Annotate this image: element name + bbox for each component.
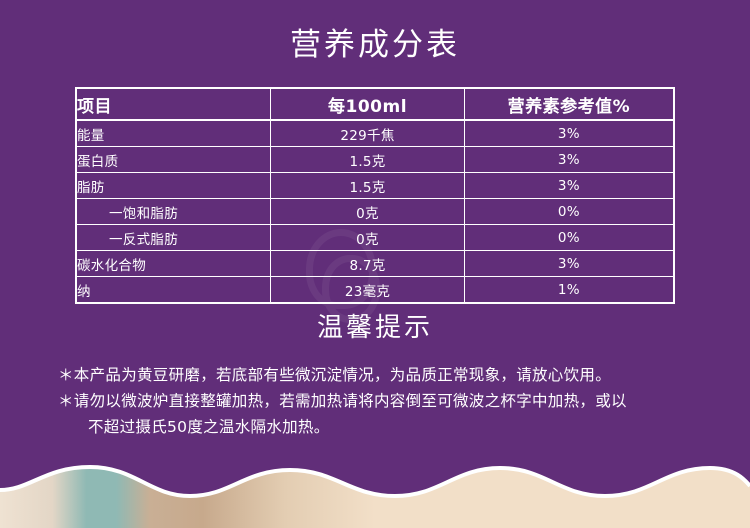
- tips-note-line: ＊请勿以微波炉直接整罐加热，若需加热请将内容倒至可微波之杯字中加热，或以: [58, 388, 698, 414]
- nutrition-table-container: 项目 每100ml 营养素参考值% 能量 229千焦 3% 蛋白质 1.5克 3…: [75, 87, 675, 304]
- cell-item-nrv: 3%: [464, 120, 673, 147]
- page-root: 营养成分表 项目 每100ml 营养素参考值% 能量 229千焦 3%: [0, 0, 750, 528]
- cell-item-value: 1.5克: [271, 147, 465, 173]
- tips-note-line: ＊本产品为黄豆研磨，若底部有些微沉淀情况，为品质正常现象，请放心饮用。: [58, 362, 698, 388]
- tips-notes: ＊本产品为黄豆研磨，若底部有些微沉淀情况，为品质正常现象，请放心饮用。 ＊请勿以…: [58, 362, 698, 440]
- cell-item-nrv: 3%: [464, 251, 673, 277]
- cell-item-name: 一反式脂肪: [77, 225, 271, 251]
- table-header-row: 项目 每100ml 营养素参考值%: [77, 89, 673, 120]
- nutrition-table: 项目 每100ml 营养素参考值% 能量 229千焦 3% 蛋白质 1.5克 3…: [77, 89, 673, 302]
- cell-item-value: 0克: [271, 225, 465, 251]
- bottom-wave-decoration: [0, 456, 750, 528]
- column-header-item: 项目: [77, 89, 271, 120]
- cell-item-value: 23毫克: [271, 277, 465, 303]
- cell-item-value: 229千焦: [271, 120, 465, 147]
- cell-item-name: 能量: [77, 120, 271, 147]
- page-title: 营养成分表: [0, 27, 750, 64]
- cell-item-nrv: 1%: [464, 277, 673, 303]
- tips-note-line-continued: 不超过摄氏50度之温水隔水加热。: [58, 414, 698, 440]
- cell-item-name: 纳: [77, 277, 271, 303]
- cell-item-name: 蛋白质: [77, 147, 271, 173]
- table-row: 纳 23毫克 1%: [77, 277, 673, 303]
- wave-fill-path: [0, 467, 750, 528]
- table-row: 蛋白质 1.5克 3%: [77, 147, 673, 173]
- column-header-per100ml: 每100ml: [271, 89, 465, 120]
- cell-item-name: 一饱和脂肪: [77, 199, 271, 225]
- cell-item-nrv: 3%: [464, 147, 673, 173]
- table-row: 脂肪 1.5克 3%: [77, 173, 673, 199]
- tips-title: 温馨提示: [0, 313, 750, 344]
- table-row: 一饱和脂肪 0克 0%: [77, 199, 673, 225]
- table-body: 能量 229千焦 3% 蛋白质 1.5克 3% 脂肪 1.5克 3% 一饱和脂肪…: [77, 120, 673, 302]
- column-header-nrv: 营养素参考值%: [464, 89, 673, 120]
- table-header: 项目 每100ml 营养素参考值%: [77, 89, 673, 120]
- cell-item-nrv: 3%: [464, 173, 673, 199]
- cell-item-value: 8.7克: [271, 251, 465, 277]
- table-row: 能量 229千焦 3%: [77, 120, 673, 147]
- table-row: 一反式脂肪 0克 0%: [77, 225, 673, 251]
- cell-item-nrv: 0%: [464, 199, 673, 225]
- cell-item-name: 碳水化合物: [77, 251, 271, 277]
- cell-item-value: 0克: [271, 199, 465, 225]
- table-row: 碳水化合物 8.7克 3%: [77, 251, 673, 277]
- cell-item-value: 1.5克: [271, 173, 465, 199]
- cell-item-name: 脂肪: [77, 173, 271, 199]
- cell-item-nrv: 0%: [464, 225, 673, 251]
